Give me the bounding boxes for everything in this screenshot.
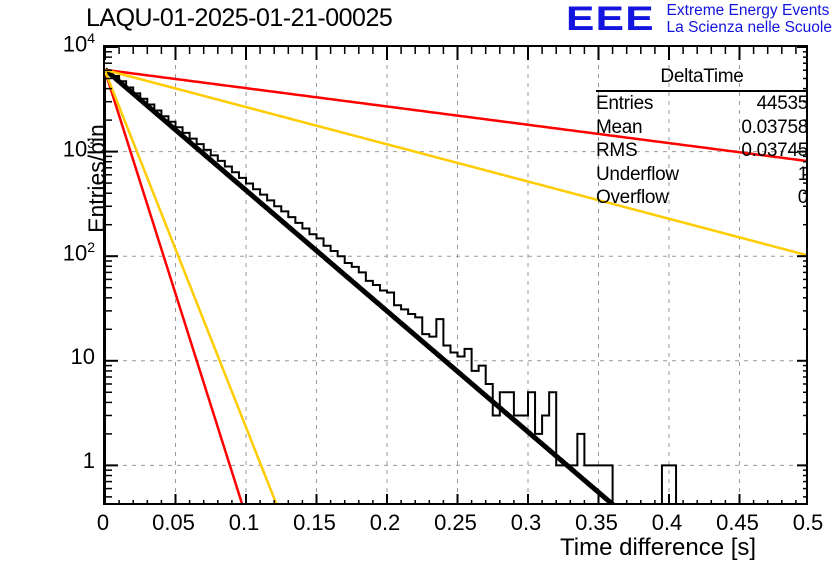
- y-tick-label: 1: [7, 448, 95, 474]
- stats-box: DeltaTime Entries44535Mean0.03758RMS0.03…: [596, 66, 808, 210]
- stats-rows: Entries44535Mean0.03758RMS0.03745Underfl…: [596, 92, 808, 210]
- stats-row-key: Entries: [596, 92, 653, 116]
- stats-row: RMS0.03745: [596, 139, 808, 163]
- y-tick-label: 10: [7, 344, 95, 370]
- stats-row-key: RMS: [596, 139, 637, 163]
- x-tick-label: 0.35: [557, 510, 637, 536]
- chart-page: LAQU-01-2025-01-21-00025 EEE Extreme Ene…: [0, 0, 836, 572]
- x-tick-label: 0.4: [627, 510, 707, 536]
- stats-row-value: 0.03745: [741, 139, 808, 163]
- x-tick-label: 0: [63, 510, 143, 536]
- stats-row-key: Underflow: [596, 163, 679, 187]
- x-tick-label: 0.05: [134, 510, 214, 536]
- x-tick-label: 0.25: [416, 510, 496, 536]
- stats-row-value: 44535: [757, 92, 808, 116]
- stats-row-value: 1: [798, 163, 808, 187]
- x-tick-label: 0.2: [345, 510, 425, 536]
- eee-logo-text: Extreme Energy Events La Scienza nelle S…: [667, 2, 832, 36]
- stats-row-key: Mean: [596, 116, 642, 140]
- x-tick-label: 0.1: [204, 510, 284, 536]
- page-title: LAQU-01-2025-01-21-00025: [86, 4, 392, 33]
- stats-row: Mean0.03758: [596, 116, 808, 140]
- stats-row: Overflow0: [596, 186, 808, 210]
- y-tick-label: 103: [7, 135, 95, 162]
- eee-logo-mark: EEE: [566, 4, 655, 34]
- stats-row-value: 0.03758: [741, 116, 808, 140]
- eee-logo-line2: La Scienza nelle Scuole: [667, 19, 832, 36]
- y-tick-label: 102: [7, 239, 95, 266]
- y-tick-label: 104: [7, 30, 95, 57]
- stats-row: Underflow1: [596, 163, 808, 187]
- x-tick-label: 0.45: [698, 510, 778, 536]
- stats-row-key: Overflow: [596, 186, 669, 210]
- eee-logo: EEE Extreme Energy Events La Scienza nel…: [566, 2, 833, 36]
- x-tick-label: 0.3: [486, 510, 566, 536]
- x-tick-label: 0.15: [275, 510, 355, 536]
- x-axis-title: Time difference [s]: [560, 534, 756, 562]
- stats-row-value: 0: [798, 186, 808, 210]
- y-axis-title: Entries/bin: [84, 69, 111, 289]
- stats-row: Entries44535: [596, 92, 808, 116]
- stats-title: DeltaTime: [596, 66, 808, 92]
- eee-logo-line1: Extreme Energy Events: [667, 2, 832, 19]
- x-tick-label: 0.5: [768, 510, 836, 536]
